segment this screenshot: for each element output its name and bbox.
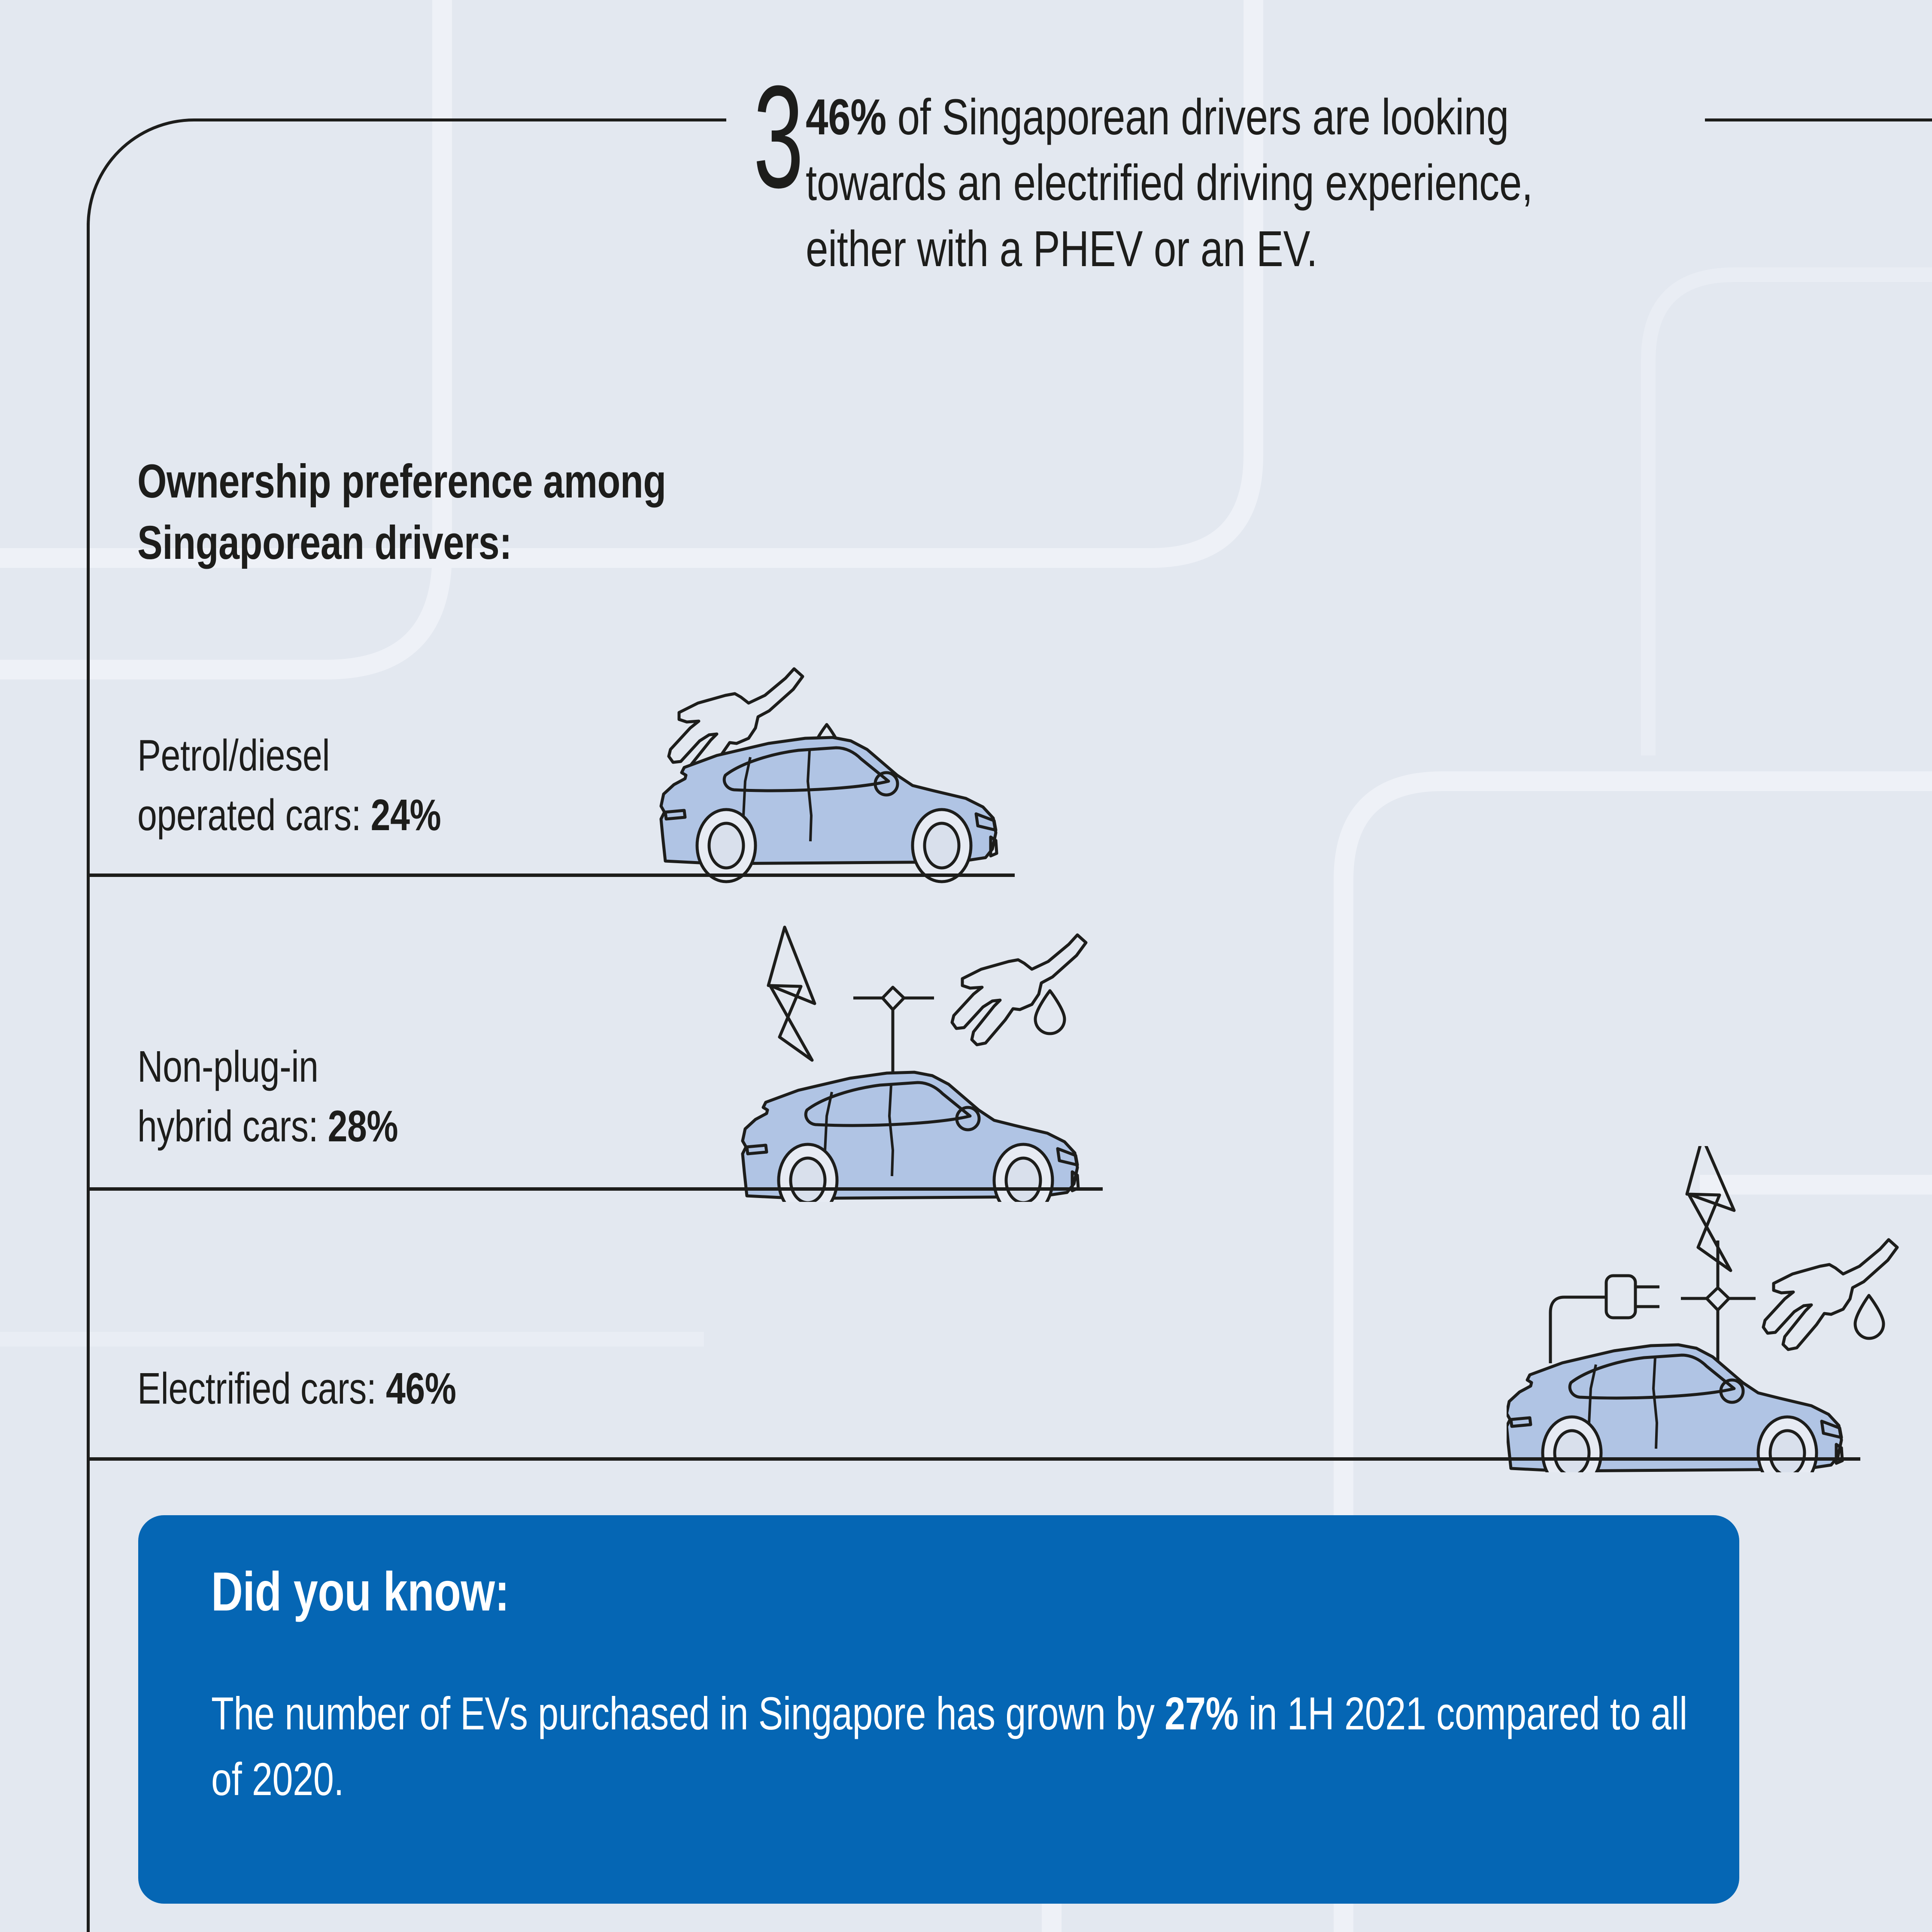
illustration-electrified-car: [1507, 1146, 1919, 1472]
hybrid-node-icon: [853, 987, 934, 1072]
row-divider-1: [90, 873, 1015, 877]
row-1-value: 24%: [371, 790, 441, 840]
page-title-line-2: Singaporean drivers:: [137, 512, 996, 573]
row-3-label-line-1: Electrified cars: 46%: [137, 1359, 961, 1418]
lightning-bolt-icon: [1687, 1146, 1734, 1271]
lightning-bolt-icon: [768, 927, 815, 1060]
header-block: 3 46% of Singaporean drivers are looking…: [753, 75, 1741, 282]
did-you-know-title: Did you know:: [211, 1560, 510, 1623]
header-statement: 46% of Singaporean drivers are looking t…: [806, 85, 1553, 282]
dyk-body-percent: 27%: [1165, 1687, 1238, 1739]
row-2-value: 28%: [328, 1101, 398, 1151]
fuel-nozzle-icon: [1763, 1240, 1897, 1350]
row-3-label-text: Electrified cars:: [137, 1364, 386, 1413]
section-number: 3: [753, 75, 807, 199]
row-2-label-text: hybrid cars:: [137, 1101, 328, 1151]
did-you-know-body: The number of EVs purchased in Singapore…: [211, 1680, 1722, 1812]
frame-left-vertical-line: [87, 223, 90, 1932]
row-divider-3: [90, 1457, 1860, 1461]
illustration-petrol-car: [657, 652, 1043, 893]
car-icon: [1507, 1345, 1842, 1472]
fuel-nozzle-icon: [952, 935, 1086, 1045]
did-you-know-callout: Did you know: The number of EVs purchase…: [138, 1515, 1739, 1904]
dyk-body-pre: The number of EVs purchased in Singapore…: [211, 1687, 1165, 1739]
infographic-page: 3 46% of Singaporean drivers are looking…: [0, 0, 1932, 1932]
frame-rounded-corner: [87, 118, 726, 419]
header-statement-rest: of Singaporean drivers are looking towar…: [806, 89, 1533, 277]
fuel-drop-icon: [1035, 991, 1065, 1034]
row-1-label-text: operated cars:: [137, 790, 371, 840]
car-icon: [743, 1072, 1078, 1202]
car-icon: [661, 737, 997, 882]
page-title: Ownership preference among Singaporean d…: [137, 451, 996, 573]
fuel-drop-icon: [1855, 1295, 1883, 1338]
row-3-value: 46%: [386, 1364, 456, 1413]
page-title-line-1: Ownership preference among: [137, 451, 996, 512]
illustration-hybrid-car: [738, 919, 1125, 1202]
row-divider-2: [90, 1187, 1103, 1191]
row-label-electrified: Electrified cars: 46%: [137, 1359, 961, 1418]
header-lead-percent: 46%: [806, 89, 886, 146]
